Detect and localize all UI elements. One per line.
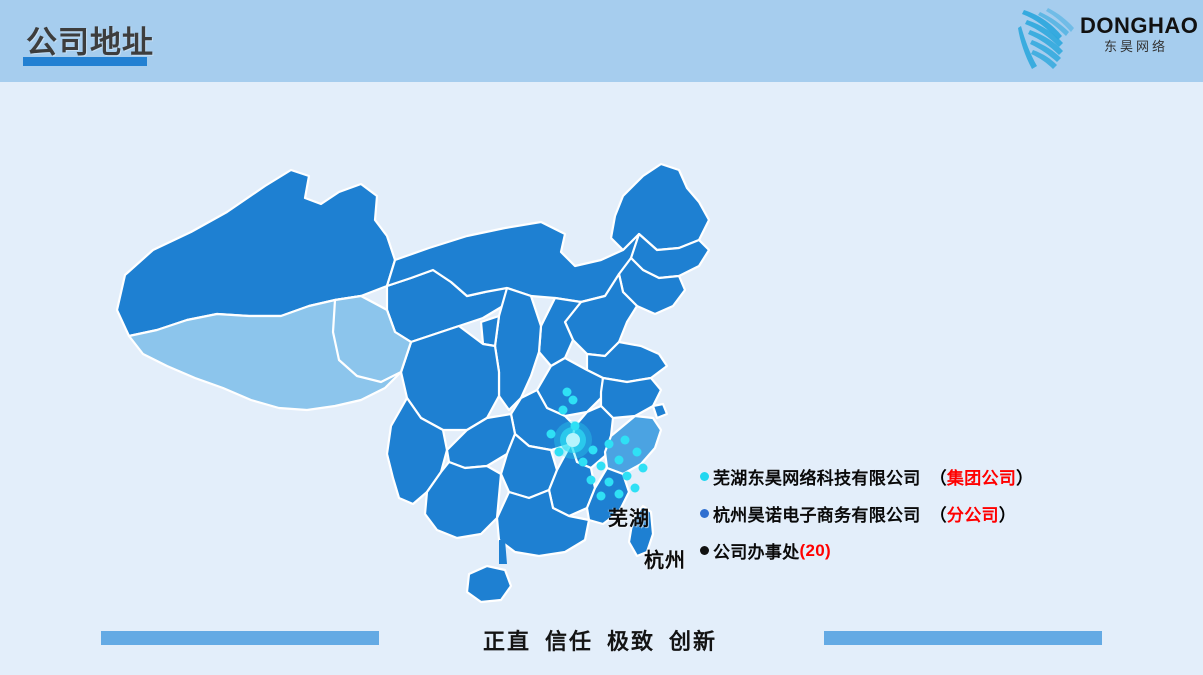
- legend-tag-text: 集团公司: [947, 469, 1016, 488]
- legend-paren-open: （: [930, 469, 947, 488]
- china-map: 芜湖 杭州: [95, 100, 735, 610]
- page-title: 公司地址: [26, 17, 154, 62]
- legend-item-group-company: 芜湖东昊网络科技有限公司 （集团公司）: [700, 458, 1170, 495]
- logo-brand-subtitle: 东昊网络: [1080, 37, 1192, 57]
- legend-list: 芜湖东昊网络科技有限公司 （集团公司） 杭州昊诺电子商务有限公司 （分公司） 公…: [700, 458, 1170, 569]
- headquarters-marker: [554, 421, 592, 459]
- legend-bullet-blue: [700, 509, 709, 518]
- province-heilongjiang: [611, 164, 709, 250]
- donghao-wing-logo-icon: [1018, 6, 1080, 72]
- logo-text-block: DONGHAO 东昊网络: [1080, 14, 1192, 57]
- motto-word-4: 创新: [669, 629, 717, 654]
- slide-header: 公司地址 DONGHAO: [0, 0, 1203, 82]
- legend-paren-close: ）: [999, 506, 1016, 525]
- footer-motto: 正直信任极致创新: [400, 624, 800, 656]
- province-ningxia: [481, 316, 499, 346]
- map-label-wuhu: 芜湖: [608, 502, 650, 531]
- province-zhejiang: [605, 416, 661, 474]
- legend-tag-text: 分公司: [947, 506, 999, 525]
- map-label-hangzhou: 杭州: [644, 544, 686, 573]
- province-shanghai: [653, 404, 667, 418]
- province-jiangsu: [601, 378, 661, 418]
- legend-office-count: (20): [800, 541, 831, 560]
- legend-label-group-company: 芜湖东昊网络科技有限公司: [713, 464, 921, 489]
- legend-bullet-black: [700, 546, 709, 555]
- legend-paren-open: （: [930, 506, 947, 525]
- legend-label-offices: 公司办事处: [713, 538, 800, 563]
- legend-tag-group-company: （集团公司）: [930, 464, 1034, 489]
- province-hainan: [467, 566, 511, 602]
- brand-logo: DONGHAO 东昊网络: [1018, 4, 1193, 76]
- slide-root: 公司地址 DONGHAO: [0, 0, 1203, 675]
- footer-bar-right: [824, 631, 1102, 645]
- title-underline-accent: [23, 57, 147, 66]
- legend-label-branch-company: 杭州昊诺电子商务有限公司: [713, 501, 921, 526]
- legend-tag-offices: (20): [800, 541, 831, 561]
- footer-bar-left: [101, 631, 379, 645]
- motto-word-3: 极致: [607, 629, 655, 654]
- motto-word-1: 正直: [483, 629, 531, 654]
- legend-item-offices: 公司办事处 (20): [700, 532, 1170, 569]
- motto-word-2: 信任: [545, 629, 593, 654]
- legend-bullet-cyan: [700, 472, 709, 481]
- logo-brand-name: DONGHAO: [1080, 14, 1192, 37]
- legend-tag-branch-company: （分公司）: [930, 501, 1017, 526]
- legend-item-branch-company: 杭州昊诺电子商务有限公司 （分公司）: [700, 495, 1170, 532]
- legend-paren-close: ）: [1016, 469, 1033, 488]
